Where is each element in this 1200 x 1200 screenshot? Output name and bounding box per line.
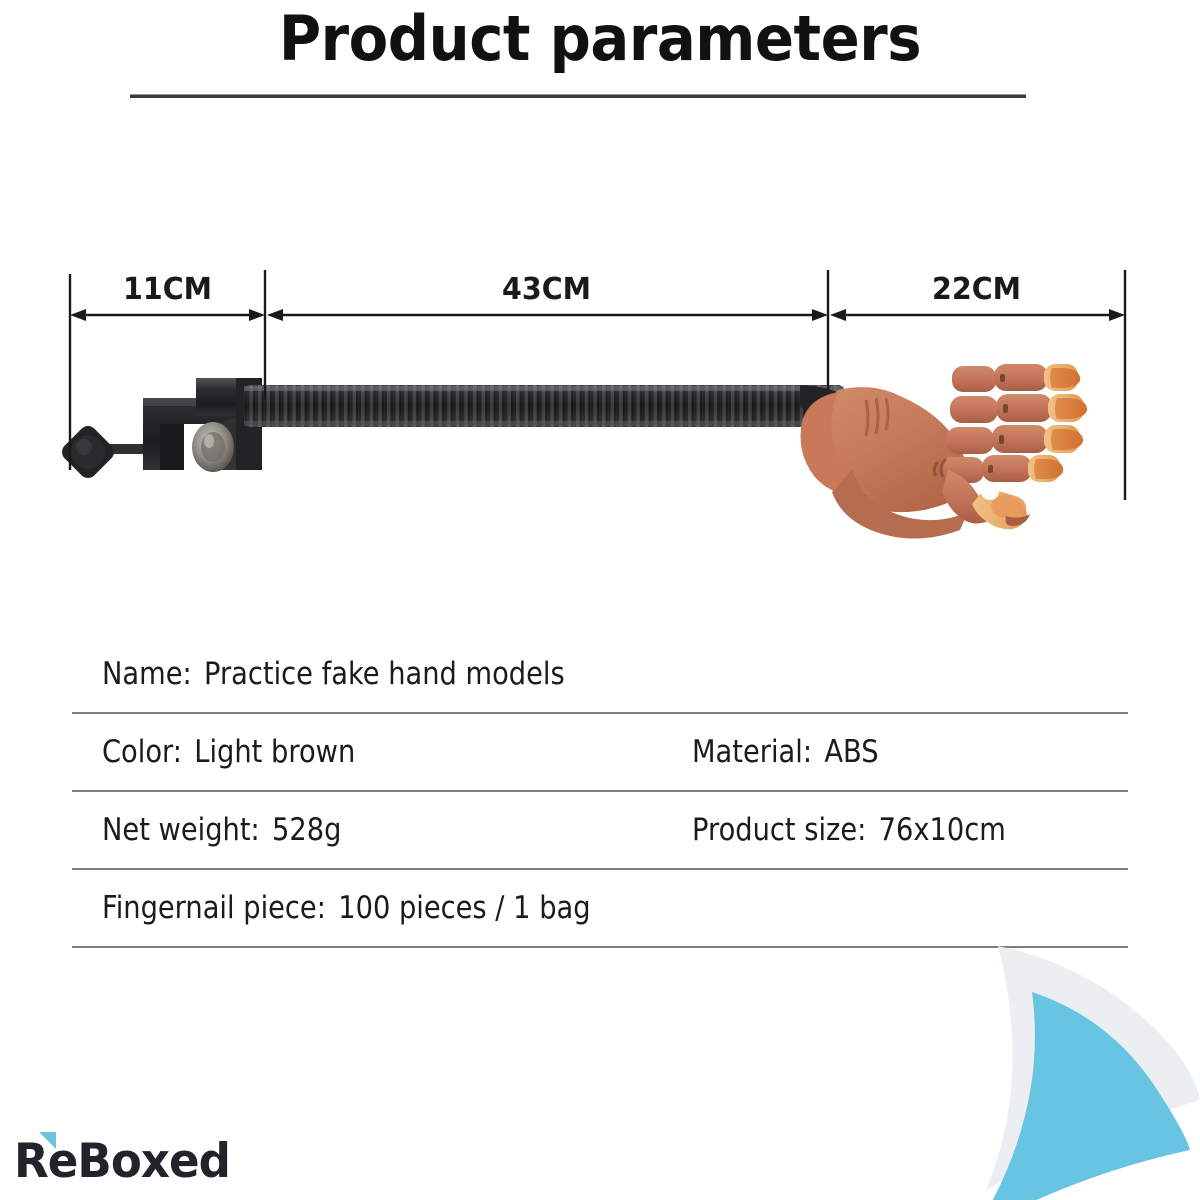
spec-cell-color: Color: Light brown bbox=[102, 714, 355, 790]
spec-value: 528g bbox=[272, 812, 341, 848]
reboxed-logo: ReBoxed bbox=[14, 1134, 239, 1190]
finger-middle bbox=[950, 394, 1087, 423]
spec-cell-fingernail-piece: Fingernail piece: 100 pieces / 1 bag bbox=[102, 870, 591, 946]
spec-value: ABS bbox=[824, 734, 878, 770]
spec-key: Product size: bbox=[692, 812, 866, 848]
table-row: Net weight: 528g Product size: 76x10cm bbox=[72, 792, 1128, 870]
table-row: Name: Practice fake hand models bbox=[72, 636, 1128, 714]
spec-key: Fingernail piece: bbox=[102, 890, 326, 926]
finger-index bbox=[952, 364, 1080, 392]
spec-cell-material: Material: ABS bbox=[692, 714, 879, 790]
dimension-label-1: 11CM bbox=[75, 272, 260, 308]
spec-cell-name: Name: Practice fake hand models bbox=[102, 636, 565, 712]
finger-ring bbox=[946, 425, 1083, 454]
dimension-label-3: 22CM bbox=[835, 272, 1117, 308]
corner-page-peel-graphic bbox=[880, 940, 1200, 1200]
spec-key: Name: bbox=[102, 656, 192, 692]
specifications-table: Name: Practice fake hand models Color: L… bbox=[72, 636, 1128, 948]
gooseneck-arm bbox=[244, 385, 861, 441]
hand-model bbox=[801, 364, 1088, 539]
dimension-label-2: 43CM bbox=[279, 272, 814, 308]
spec-key: Color: bbox=[102, 734, 182, 770]
corner-peel-fill bbox=[976, 992, 1190, 1200]
spec-value: Practice fake hand models bbox=[204, 656, 565, 692]
table-row: Fingernail piece: 100 pieces / 1 bag bbox=[72, 870, 1128, 948]
spec-value: 76x10cm bbox=[879, 812, 1006, 848]
spec-value: Light brown bbox=[194, 734, 355, 770]
spec-key: Material: bbox=[692, 734, 812, 770]
spec-cell-net-weight: Net weight: 528g bbox=[102, 792, 341, 868]
logo-text: ReBoxed bbox=[14, 1137, 230, 1187]
table-row: Color: Light brown Material: ABS bbox=[72, 714, 1128, 792]
product-parameters-page: Product parameters bbox=[0, 0, 1200, 1200]
spec-cell-product-size: Product size: 76x10cm bbox=[692, 792, 1006, 868]
spec-value: 100 pieces / 1 bag bbox=[338, 890, 590, 926]
spec-key: Net weight: bbox=[102, 812, 260, 848]
